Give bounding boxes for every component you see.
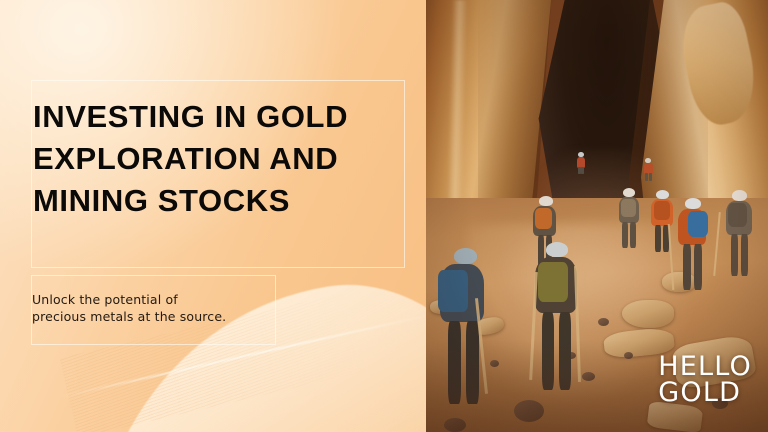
text-panel: INVESTING IN GOLD EXPLORATION AND MINING… (0, 0, 426, 432)
logo-line-gold: GOLD (658, 380, 752, 406)
miner-right-blue (674, 198, 710, 290)
rock-boulder (622, 300, 674, 328)
pebble (598, 318, 609, 326)
mine-photo: HELLO GOLD (426, 0, 768, 432)
miner-far-right (722, 190, 756, 276)
miner-distant-center (643, 158, 654, 181)
hello-gold-logo: HELLO GOLD (658, 354, 752, 406)
miner-mid-right (648, 190, 676, 252)
headline-text: INVESTING IN GOLD EXPLORATION AND MINING… (33, 96, 423, 222)
promo-banner: INVESTING IN GOLD EXPLORATION AND MINING… (0, 0, 768, 432)
miner-distant-left (576, 152, 586, 174)
subhead-text: Unlock the potential of precious metals … (32, 291, 282, 325)
miner-mid-center (616, 188, 642, 248)
